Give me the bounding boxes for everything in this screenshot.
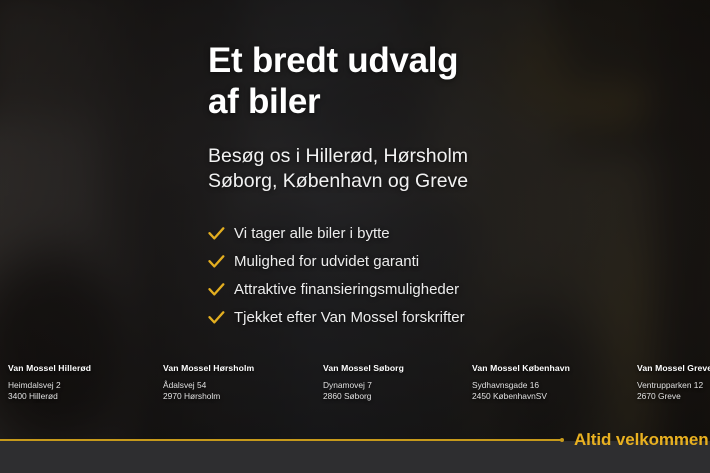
location-greve: Van Mossel Greve Ventrupparken 12 2670 G… — [637, 363, 710, 403]
location-name: Van Mossel Hørsholm — [163, 363, 254, 373]
location-address: Ventrupparken 12 2670 Greve — [637, 380, 710, 403]
check-icon — [208, 311, 234, 325]
location-address: Ådalsvej 54 2970 Hørsholm — [163, 380, 254, 403]
location-name: Van Mossel Søborg — [323, 363, 404, 373]
benefit-label: Mulighed for udvidet garanti — [234, 253, 419, 271]
benefit-label: Vi tager alle biler i bytte — [234, 225, 390, 243]
location-city: 2860 Søborg — [323, 391, 371, 401]
benefit-label: Tjekket efter Van Mossel forskrifter — [234, 309, 465, 327]
location-street: Ventrupparken 12 — [637, 380, 703, 390]
location-hillerod: Van Mossel Hillerød Heimdalsvej 2 3400 H… — [8, 363, 91, 403]
location-address: Dynamovej 7 2860 Søborg — [323, 380, 404, 403]
list-item: Attraktive finansieringsmuligheder — [208, 276, 678, 303]
tagline: Altid velkommen — [574, 430, 709, 450]
locations-row: Van Mossel Hillerød Heimdalsvej 2 3400 H… — [0, 363, 710, 409]
page-title: Et bredt udvalg af biler — [208, 40, 678, 122]
benefit-label: Attraktive finansieringsmuligheder — [234, 281, 459, 299]
location-address: Heimdalsvej 2 3400 Hillerød — [8, 380, 91, 403]
location-kobenhavn: Van Mossel København Sydhavnsgade 16 245… — [472, 363, 570, 403]
headline-line-2: af biler — [208, 82, 320, 121]
hero-banner: Et bredt udvalg af biler Besøg os i Hill… — [0, 0, 710, 473]
location-address: Sydhavnsgade 16 2450 KøbenhavnSV — [472, 380, 570, 403]
location-city: 2970 Hørsholm — [163, 391, 220, 401]
subtitle-line-1: Besøg os i Hillerød, Hørsholm — [208, 145, 468, 167]
hero-subtitle: Besøg os i Hillerød, Hørsholm Søborg, Kø… — [208, 144, 678, 194]
location-soborg: Van Mossel Søborg Dynamovej 7 2860 Søbor… — [323, 363, 404, 403]
check-icon — [208, 255, 234, 269]
list-item: Tjekket efter Van Mossel forskrifter — [208, 304, 678, 331]
headline-line-1: Et bredt udvalg — [208, 41, 458, 80]
location-city: 2670 Greve — [637, 391, 681, 401]
location-name: Van Mossel Greve — [637, 363, 710, 373]
check-icon — [208, 227, 234, 241]
check-icon — [208, 283, 234, 297]
location-city: 2450 KøbenhavnSV — [472, 391, 547, 401]
gold-divider-cap — [560, 438, 564, 442]
location-name: Van Mossel Hillerød — [8, 363, 91, 373]
list-item: Vi tager alle biler i bytte — [208, 220, 678, 247]
location-street: Dynamovej 7 — [323, 380, 372, 390]
location-street: Heimdalsvej 2 — [8, 380, 61, 390]
location-horsholm: Van Mossel Hørsholm Ådalsvej 54 2970 Hør… — [163, 363, 254, 403]
subtitle-line-2: Søborg, København og Greve — [208, 170, 468, 192]
benefits-list: Vi tager alle biler i bytte Mulighed for… — [208, 220, 678, 331]
hero-copy: Et bredt udvalg af biler Besøg os i Hill… — [208, 40, 678, 332]
location-street: Sydhavnsgade 16 — [472, 380, 539, 390]
gold-divider-rule — [0, 439, 563, 441]
location-street: Ådalsvej 54 — [163, 380, 206, 390]
location-city: 3400 Hillerød — [8, 391, 58, 401]
list-item: Mulighed for udvidet garanti — [208, 248, 678, 275]
location-name: Van Mossel København — [472, 363, 570, 373]
